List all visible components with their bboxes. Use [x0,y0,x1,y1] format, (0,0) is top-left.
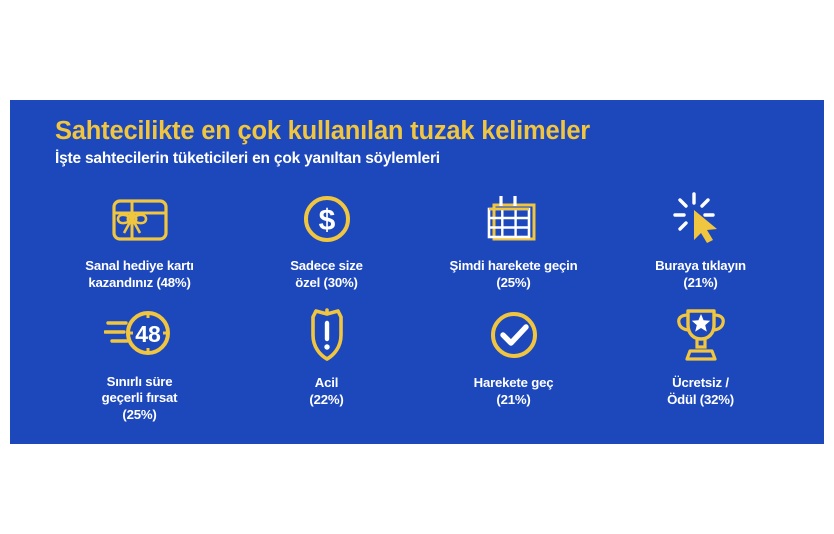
stat-item-limited-time: 48 Sınırlı süre geçerli fırsat (25%) [46,303,233,423]
svg-text:$: $ [318,204,335,237]
stat-caption: Harekete geç (21%) [474,375,554,408]
timer-48-icon: 48 [104,303,176,366]
stat-item-free-reward: Ücretsiz / Ödül (32%) [607,303,794,423]
infographic-panel: Sahtecilikte en çok kullanılan tuzak kel… [10,100,824,444]
dollar-circle-icon: $ [298,188,356,250]
infographic-canvas: Sahtecilikte en çok kullanılan tuzak kel… [0,0,834,534]
stat-caption: Ücretsiz / Ödül (32%) [667,375,734,408]
stat-item-gift-card: Sanal hediye kartı kazandınız (48%) [46,188,233,303]
stat-caption: Buraya tıklayın (21%) [655,258,746,291]
click-cursor-icon [670,188,732,250]
gift-card-icon [108,188,172,250]
timer-value: 48 [135,321,161,347]
stat-item-urgent: Acil (22%) [233,303,420,423]
stat-caption: Sadece size özel (30%) [290,258,363,291]
stat-item-click-here: Buraya tıklayın (21%) [607,188,794,303]
page-title: Sahtecilikte en çok kullanılan tuzak kel… [55,118,795,145]
page-subtitle: İşte sahtecilerin tüketicileri en çok ya… [55,150,795,168]
stat-item-act-now: Şimdi harekete geçin (25%) [420,188,607,303]
stat-caption: Acil (22%) [309,375,343,408]
stat-caption: Sınırlı süre geçerli fırsat (25%) [102,374,178,424]
trophy-star-icon [670,303,732,367]
stat-caption: Şimdi harekete geçin (25%) [450,258,578,291]
icon-grid: Sanal hediye kartı kazandınız (48%) $ Sa… [46,188,794,423]
check-circle-icon [486,303,542,367]
shield-alert-icon [300,303,354,367]
stat-item-take-action: Harekete geç (21%) [420,303,607,423]
stat-caption: Sanal hediye kartı kazandınız (48%) [85,258,194,291]
header: Sahtecilikte en çok kullanılan tuzak kel… [55,118,795,168]
stat-item-exclusive-offer: $ Sadece size özel (30%) [233,188,420,303]
calendar-icon [484,188,544,250]
